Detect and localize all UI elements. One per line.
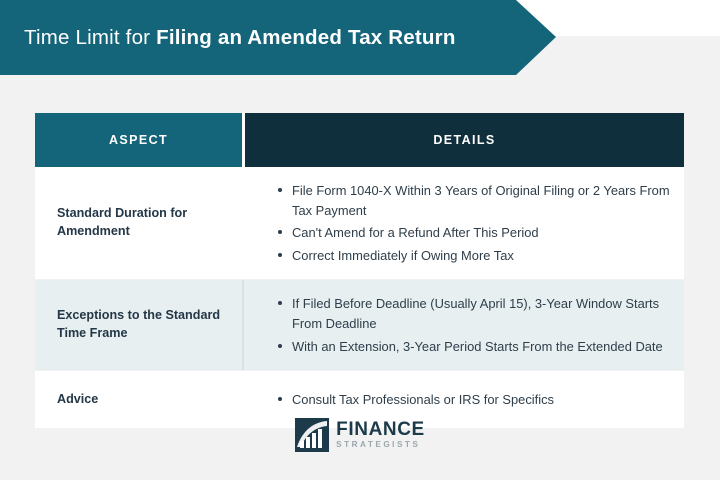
list-item: Consult Tax Professionals or IRS for Spe… xyxy=(278,390,670,410)
brand-name: FINANCE xyxy=(336,420,425,439)
comparison-table: ASPECT DETAILS Standard Duration for Ame… xyxy=(35,113,684,428)
aspect-label: Standard Duration for Amendment xyxy=(57,205,242,241)
table-row: Exceptions to the Standard Time Frame If… xyxy=(35,280,684,370)
list-item: Correct Immediately if Owing More Tax xyxy=(278,246,670,266)
table-cell-aspect: Exceptions to the Standard Time Frame xyxy=(35,280,242,370)
details-list: Consult Tax Professionals or IRS for Spe… xyxy=(262,390,670,410)
bar-chart-arc-logo-icon xyxy=(295,418,329,452)
table-cell-aspect: Standard Duration for Amendment xyxy=(35,167,242,279)
footer-logo: FINANCE STRATEGISTS xyxy=(0,418,720,452)
header-banner: Time Limit for Filing an Amended Tax Ret… xyxy=(0,0,556,75)
page-title: Time Limit for Filing an Amended Tax Ret… xyxy=(0,26,456,50)
aspect-label: Exceptions to the Standard Time Frame xyxy=(57,307,242,343)
table-header-row: ASPECT DETAILS xyxy=(35,113,684,167)
column-header-label: ASPECT xyxy=(109,133,168,147)
logo-wordmark: FINANCE STRATEGISTS xyxy=(336,420,425,449)
list-item: If Filed Before Deadline (Usually April … xyxy=(278,294,670,333)
details-list: File Form 1040-X Within 3 Years of Origi… xyxy=(262,181,670,265)
list-item: Can't Amend for a Refund After This Peri… xyxy=(278,223,670,243)
table-header-cell-details: DETAILS xyxy=(242,113,684,167)
column-header-label: DETAILS xyxy=(433,133,495,147)
table-cell-details: If Filed Before Deadline (Usually April … xyxy=(242,280,684,370)
aspect-label: Advice xyxy=(57,391,98,409)
page-title-regular: Time Limit for xyxy=(24,26,156,49)
brand-tagline: STRATEGISTS xyxy=(336,441,425,449)
table-header-cell-aspect: ASPECT xyxy=(35,113,242,167)
page-title-bold: Filing an Amended Tax Return xyxy=(156,26,455,49)
table-row: Standard Duration for Amendment File For… xyxy=(35,167,684,279)
list-item: File Form 1040-X Within 3 Years of Origi… xyxy=(278,181,670,220)
table-cell-details: File Form 1040-X Within 3 Years of Origi… xyxy=(242,167,684,279)
details-list: If Filed Before Deadline (Usually April … xyxy=(262,294,670,356)
list-item: With an Extension, 3-Year Period Starts … xyxy=(278,337,670,357)
